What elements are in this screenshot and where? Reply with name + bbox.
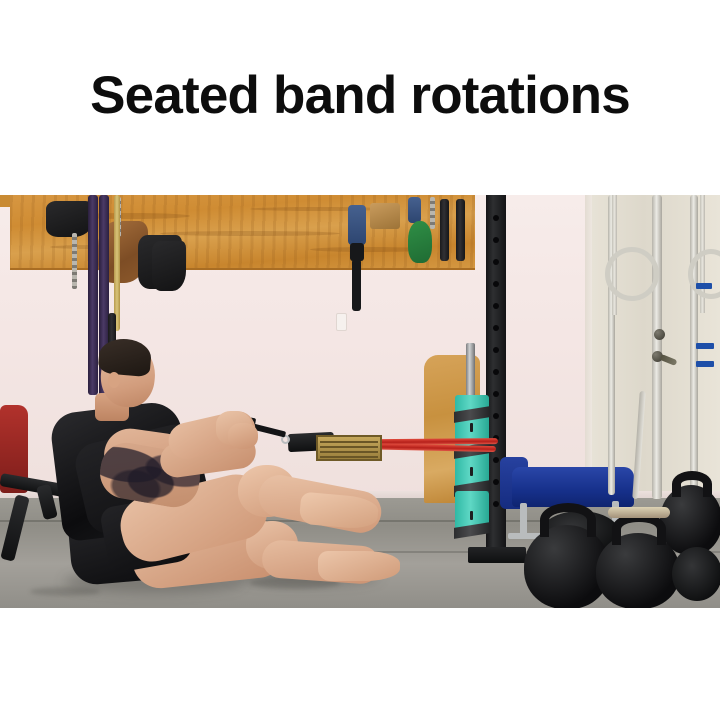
hair	[98, 337, 153, 377]
page-title: Seated band rotations	[90, 69, 630, 122]
person-performing-exercise	[0, 195, 720, 608]
exercise-card: Seated band rotations	[0, 0, 720, 720]
far-foot	[318, 551, 400, 581]
title-bar: Seated band rotations	[0, 0, 720, 195]
second-hand	[228, 423, 258, 449]
ear	[108, 372, 120, 388]
exercise-photo	[0, 195, 720, 608]
